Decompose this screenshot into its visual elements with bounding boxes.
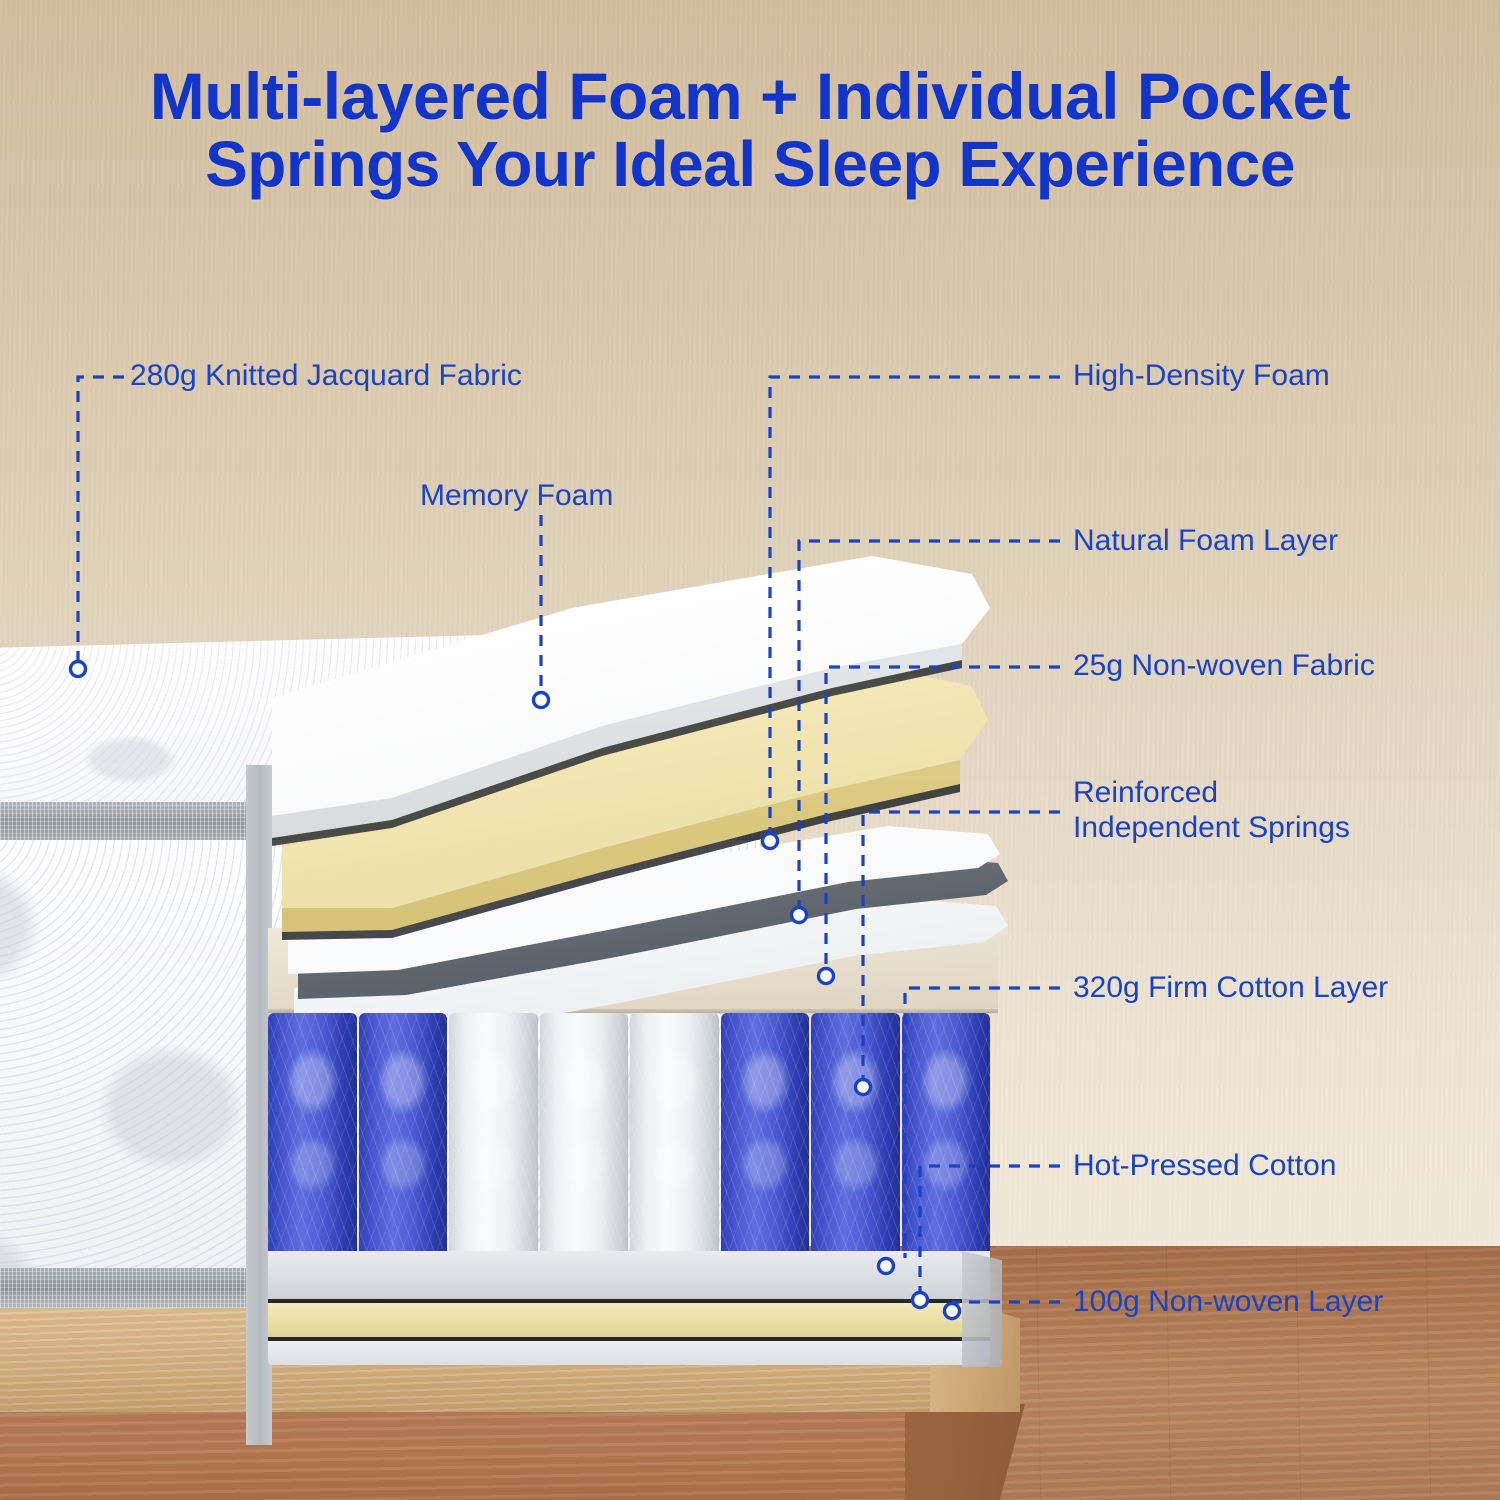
pocket-spring — [902, 1013, 991, 1257]
base-right-bevel — [962, 1251, 1002, 1367]
label-reinforced-springs: Reinforced Independent Springs — [1073, 775, 1350, 846]
page-title: Multi-layered Foam + Individual Pocket S… — [0, 62, 1500, 197]
label-firm-cotton-layer: 320g Firm Cotton Layer — [1073, 970, 1388, 1005]
pocket-spring — [449, 1013, 538, 1257]
label-non-woven-100g: 100g Non-woven Layer — [1073, 1284, 1383, 1319]
exploded-foam-layers — [272, 548, 1012, 988]
pocket-spring — [630, 1013, 719, 1257]
pocket-spring-row — [268, 1013, 990, 1257]
pocket-spring — [811, 1013, 900, 1257]
bed-frame-side-panel — [0, 1404, 950, 1500]
infographic-canvas: Multi-layered Foam + Individual Pocket S… — [0, 0, 1500, 1500]
non-woven-100g-layer — [268, 1303, 990, 1339]
pocket-spring — [359, 1013, 448, 1257]
mattress-base-layer — [268, 1341, 990, 1365]
title-line-1: Multi-layered Foam + Individual Pocket — [150, 59, 1350, 133]
pocket-spring — [268, 1013, 357, 1257]
pocket-spring — [721, 1013, 810, 1257]
label-memory-foam: Memory Foam — [420, 478, 613, 513]
label-hot-pressed-cotton: Hot-Pressed Cotton — [1073, 1148, 1336, 1183]
hot-pressed-cotton-layer — [268, 1251, 990, 1301]
title-line-2: Springs Your Ideal Sleep Experience — [0, 131, 1500, 198]
label-knitted-jacquard: 280g Knitted Jacquard Fabric — [130, 358, 522, 393]
pocket-spring — [540, 1013, 629, 1257]
label-high-density-foam: High-Density Foam — [1073, 358, 1330, 393]
label-natural-foam-layer: Natural Foam Layer — [1073, 523, 1338, 558]
label-non-woven-25g: 25g Non-woven Fabric — [1073, 648, 1375, 683]
